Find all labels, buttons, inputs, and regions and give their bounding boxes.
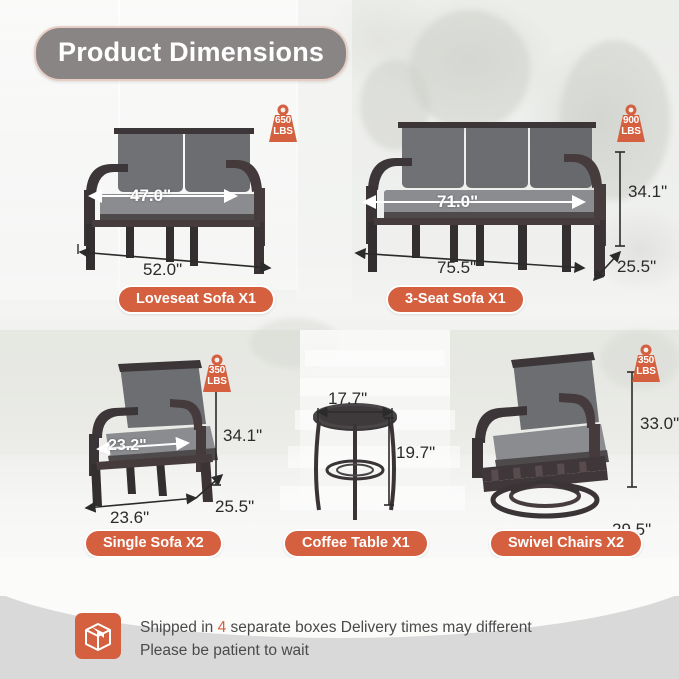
- dim-single-sofa-seat-width: 23.2": [108, 437, 147, 455]
- weight-badge-three-seat-text: 900 LBS: [614, 116, 648, 137]
- weight-value: 350: [200, 366, 234, 377]
- shipping-note-line1: Shipped in 4 separate boxes Delivery tim…: [140, 616, 532, 639]
- weight-unit: LBS: [629, 367, 663, 378]
- caption-pill-single-sofa: Single Sofa X2: [84, 529, 223, 558]
- weight-unit: LBS: [200, 377, 234, 388]
- weight-badge-loveseat: 650 LBS: [266, 104, 300, 144]
- three-seat-sofa-illustration: [350, 122, 615, 282]
- dim-three-seat-seat-width: 71.0": [437, 192, 478, 212]
- caption-pill-coffee-table: Coffee Table X1: [283, 529, 429, 558]
- weight-badge-single-sofa-text: 350 LBS: [200, 366, 234, 387]
- coffee-table-illustration: [305, 400, 405, 525]
- dim-single-sofa-depth: 25.5": [215, 497, 254, 517]
- dim-three-seat-overall-width: 75.5": [437, 258, 476, 278]
- weight-value: 350: [629, 356, 663, 367]
- weight-value: 900: [614, 116, 648, 127]
- dim-single-sofa-height: 34.1": [223, 426, 262, 446]
- dim-loveseat-overall-width: 52.0": [143, 260, 182, 280]
- loveseat-illustration: [70, 128, 285, 278]
- infographic-canvas: Product Dimensions: [0, 0, 679, 679]
- weight-badge-swivel-chair-text: 350 LBS: [629, 356, 663, 377]
- weight-unit: LBS: [266, 127, 300, 138]
- weight-badge-single-sofa: 350 LBS: [200, 354, 234, 394]
- weight-badge-three-seat: 900 LBS: [614, 104, 648, 144]
- dim-single-sofa-overall-width: 23.6": [110, 508, 149, 528]
- shipping-note: Shipped in 4 separate boxes Delivery tim…: [140, 616, 532, 662]
- shipping-note-line1-before: Shipped in: [140, 619, 218, 636]
- caption-pill-loveseat: Loveseat Sofa X1: [117, 285, 275, 314]
- dim-loveseat-seat-width: 47.0": [130, 186, 171, 206]
- weight-unit: LBS: [614, 127, 648, 138]
- shipping-box-icon: [75, 613, 121, 659]
- dim-three-seat-height: 34.1": [628, 182, 667, 202]
- weight-value: 650: [266, 116, 300, 127]
- caption-pill-swivel-chair: Swivel Chairs X2: [489, 529, 643, 558]
- dim-three-seat-depth: 25.5": [617, 257, 656, 277]
- dim-coffee-table-top-diameter: 17.7": [328, 389, 367, 409]
- shipping-box-count: 4: [218, 619, 227, 636]
- shipping-note-line2: Please be patient to wait: [140, 639, 532, 662]
- weight-badge-swivel-chair: 350 LBS: [629, 344, 663, 384]
- swivel-chair-illustration: [465, 352, 630, 522]
- weight-badge-loveseat-text: 650 LBS: [266, 116, 300, 137]
- caption-pill-three-seat: 3-Seat Sofa X1: [386, 285, 525, 314]
- page-title: Product Dimensions: [34, 26, 348, 81]
- background-paver-1: [305, 350, 445, 366]
- background-paver-2: [300, 378, 450, 396]
- dim-swivel-chair-height: 33.0": [640, 414, 679, 434]
- dim-coffee-table-height: 19.7": [396, 443, 435, 463]
- shipping-note-line1-after: separate boxes Delivery times may differ…: [226, 619, 532, 636]
